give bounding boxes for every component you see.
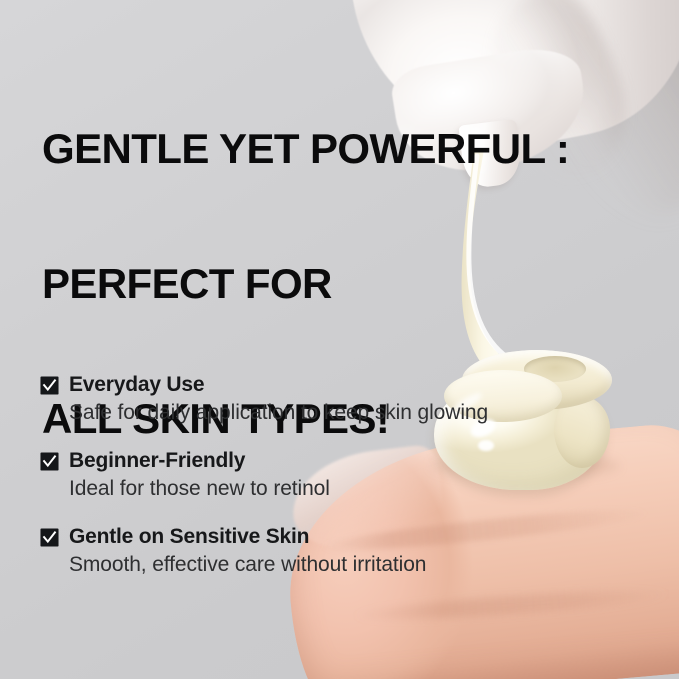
benefit-description: Ideal for those new to retinol — [69, 475, 600, 502]
checked-checkbox-icon — [40, 528, 59, 547]
benefit-title: Everyday Use — [69, 372, 204, 398]
benefit-heading-row: Everyday Use — [40, 372, 600, 398]
text-content: GENTLE YET POWERFUL : PERFECT FOR ALL SK… — [0, 0, 679, 679]
list-item: Beginner-Friendly Ideal for those new to… — [40, 448, 600, 502]
benefit-heading-row: Gentle on Sensitive Skin — [40, 524, 600, 550]
benefit-title: Gentle on Sensitive Skin — [69, 524, 309, 550]
benefit-description: Smooth, effective care without irritatio… — [69, 551, 600, 578]
headline-line-1: GENTLE YET POWERFUL : — [42, 126, 569, 171]
headline-line-2: PERFECT FOR — [42, 261, 569, 306]
benefit-description: Safe for daily application to keep skin … — [69, 399, 600, 426]
benefit-heading-row: Beginner-Friendly — [40, 448, 600, 474]
product-graphic-canvas: GENTLE YET POWERFUL : PERFECT FOR ALL SK… — [0, 0, 679, 679]
benefit-title: Beginner-Friendly — [69, 448, 245, 474]
list-item: Everyday Use Safe for daily application … — [40, 372, 600, 426]
benefit-list: Everyday Use Safe for daily application … — [40, 372, 600, 578]
list-item: Gentle on Sensitive Skin Smooth, effecti… — [40, 524, 600, 578]
checked-checkbox-icon — [40, 452, 59, 471]
checked-checkbox-icon — [40, 376, 59, 395]
